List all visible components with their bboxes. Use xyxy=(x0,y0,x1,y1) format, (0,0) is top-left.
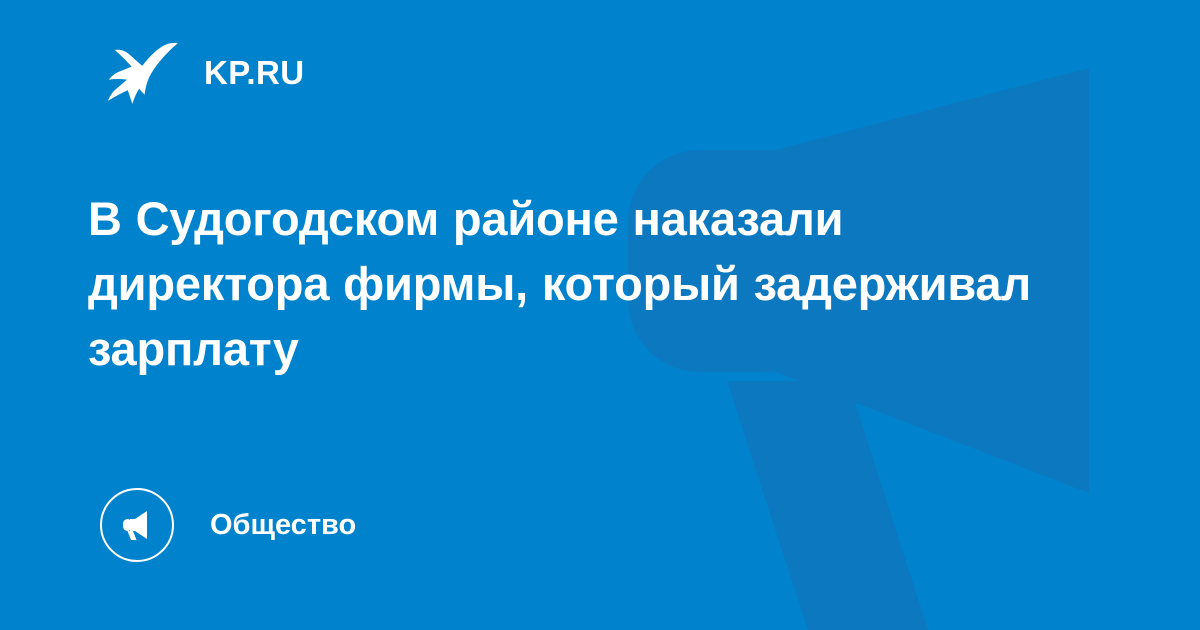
brand-header[interactable]: KP.RU xyxy=(104,34,304,110)
category-badge[interactable]: Общество xyxy=(100,487,356,563)
megaphone-icon xyxy=(100,488,174,562)
swallow-bird-icon xyxy=(104,34,182,110)
category-label: Общество xyxy=(210,511,356,540)
brand-name: KP.RU xyxy=(204,56,304,89)
share-card: KP.RU В Судогодском районе наказали дире… xyxy=(0,0,1200,630)
page-title: В Судогодском районе наказали директора … xyxy=(88,186,1048,381)
